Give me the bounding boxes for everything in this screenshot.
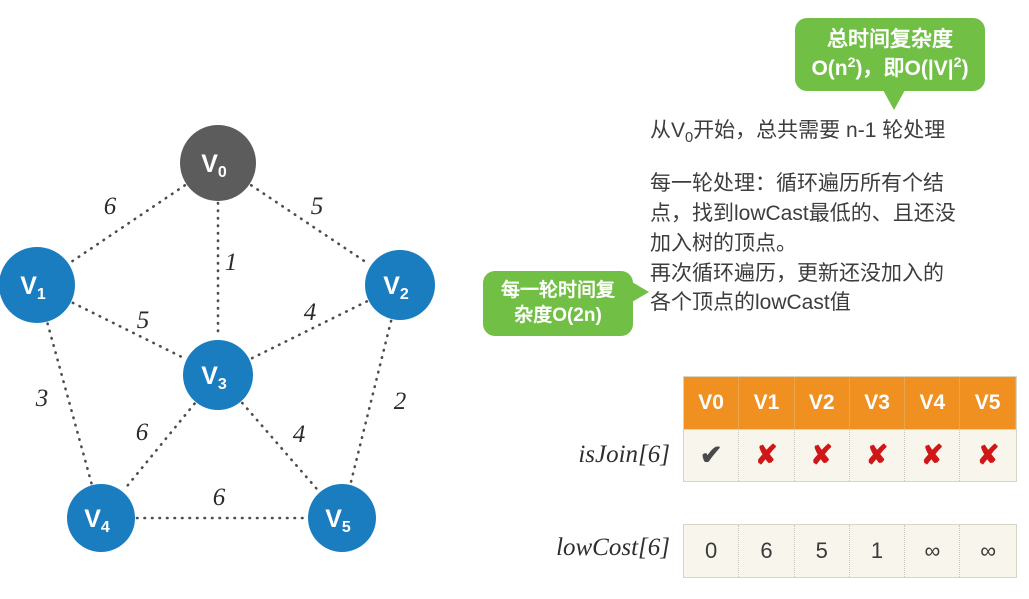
edge-weight-v2-v5: 2 [394, 388, 407, 415]
graph-edge-v0-v1 [70, 185, 185, 262]
isjoin-cell-v4: ✘ [905, 430, 960, 481]
description-para3-line2: 各个顶点的lowCast值 [650, 288, 1022, 318]
lowcost-cell-v4: ∞ [905, 525, 960, 577]
edge-weight-v1-v4: 3 [35, 385, 49, 412]
isjoin-cell-v0: ✔ [684, 430, 739, 481]
graph-panel: 6515436426V0V1V2V3V4V5 [0, 0, 470, 599]
description-line-1-suffix: 开始，总共需要 n-1 轮处理 [693, 119, 945, 142]
graph-node-v0[interactable]: V0 [180, 125, 256, 201]
edge-weight-v0-v1: 6 [104, 193, 117, 220]
isjoin-mark-v2: ✘ [810, 440, 833, 471]
graph-edge-v1-v3 [73, 303, 185, 359]
node-circle-v1 [0, 247, 75, 323]
table-header-cell-v5: V5 [960, 377, 1015, 429]
callout-total-line2: O(n2)，即O(|V|2) [805, 54, 975, 83]
isjoin-mark-v5: ✘ [977, 440, 1000, 471]
isjoin-cell-v3: ✘ [850, 430, 905, 481]
graph-svg: 6515436426V0V1V2V3V4V5 [0, 0, 470, 599]
description-para2-line3: 加入树的顶点。 [650, 229, 1022, 259]
lowcost-cell-v5: ∞ [960, 525, 1015, 577]
callout-total-line2-mid: )，即O(|V| [856, 57, 954, 80]
isjoin-mark-v4: ✘ [921, 440, 944, 471]
graph-node-v1[interactable]: V1 [0, 247, 75, 323]
lowcost-cell-v3: 1 [850, 525, 905, 577]
description-para2-line1: 每一轮处理：循环遍历所有个结 [650, 169, 1022, 199]
graph-node-v4[interactable]: V4 [67, 484, 135, 552]
isjoin-mark-v0: ✔ [700, 440, 723, 471]
edge-weight-v0-v2: 5 [311, 193, 324, 220]
graph-edge-v3-v5 [242, 403, 318, 491]
callout-round-tail [632, 282, 649, 302]
lowcost-cell-v0: 0 [684, 525, 739, 577]
edge-weight-v3-v5: 4 [293, 421, 306, 448]
callout-total-complexity: 总时间复杂度 O(n2)，即O(|V|2) [795, 18, 985, 91]
node-circle-v3 [183, 340, 253, 410]
node-circle-v5 [308, 484, 376, 552]
description-gap-1 [650, 149, 1022, 169]
table-header-row: V0V1V2V3V4V5 [683, 376, 1017, 430]
callout-round-line2: 杂度O(2n) [491, 303, 625, 328]
table-header-cell-v2: V2 [795, 377, 850, 429]
graph-edge-v3-v4 [124, 404, 195, 491]
graph-node-v3[interactable]: V3 [183, 340, 253, 410]
lowcost-cell-v2: 5 [795, 525, 850, 577]
isjoin-mark-v3: ✘ [866, 440, 889, 471]
lowcost-values-row: 0651∞∞ [683, 524, 1017, 578]
node-circle-v4 [67, 484, 135, 552]
table-header-cell-v4: V4 [905, 377, 960, 429]
edge-weight-v0-v3: 1 [225, 249, 238, 276]
callout-total-exponent-2: 2 [954, 55, 962, 71]
graph-edge-v1-v4 [48, 324, 92, 484]
graph-edge-v2-v5 [351, 321, 391, 483]
lowcost-cell-v1: 6 [739, 525, 794, 577]
description-line-1-subscript: 0 [685, 130, 693, 146]
table-header-cell-v1: V1 [739, 377, 794, 429]
node-circle-v2 [365, 250, 435, 320]
callout-total-line2-prefix: O(n [811, 57, 847, 80]
callout-total-tail [883, 90, 905, 110]
callout-round-complexity: 每一轮时间复 杂度O(2n) [483, 271, 633, 336]
lowcost-row-label: lowCost[6] [470, 534, 670, 562]
table-header-cell-v0: V0 [684, 377, 739, 429]
table-header-cell-v3: V3 [850, 377, 905, 429]
isjoin-cell-v2: ✘ [795, 430, 850, 481]
description-para2-line2: 点，找到lowCast最低的、且还没 [650, 199, 1022, 229]
callout-total-line1: 总时间复杂度 [805, 26, 975, 54]
callout-total-exponent-1: 2 [848, 55, 856, 71]
isjoin-cell-v5: ✘ [960, 430, 1015, 481]
callout-total-line2-suffix: ) [962, 57, 969, 80]
edge-weight-v1-v3: 5 [137, 307, 150, 334]
callout-round-line1: 每一轮时间复 [491, 278, 625, 303]
edge-weight-v2-v3: 4 [304, 299, 317, 326]
edge-weight-v4-v5: 6 [213, 484, 226, 511]
description-line-1: 从V0开始，总共需要 n-1 轮处理 [650, 116, 1022, 149]
graph-node-v2[interactable]: V2 [365, 250, 435, 320]
description-line-1-prefix: 从V [650, 119, 685, 142]
edge-weight-v3-v4: 6 [136, 419, 149, 446]
node-circle-v0 [180, 125, 256, 201]
isjoin-values-row: ✔✘✘✘✘✘ [683, 430, 1017, 482]
isjoin-row-label: isJoin[6] [470, 441, 670, 469]
description-text: 从V0开始，总共需要 n-1 轮处理 每一轮处理：循环遍历所有个结 点，找到lo… [650, 116, 1022, 318]
isjoin-mark-v1: ✘ [755, 440, 778, 471]
graph-node-v5[interactable]: V5 [308, 484, 376, 552]
isjoin-cell-v1: ✘ [739, 430, 794, 481]
description-para3-line1: 再次循环遍历，更新还没加入的 [650, 259, 1022, 289]
